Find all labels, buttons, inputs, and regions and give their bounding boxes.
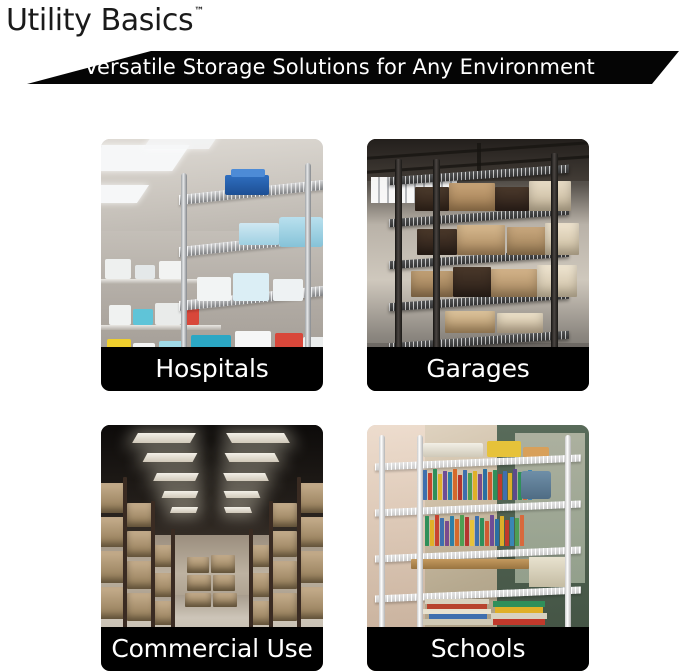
hospitals-label-band: Hospitals — [101, 347, 323, 391]
brand-name: Utility Basics — [6, 2, 193, 40]
commercial-use-label: Commercial Use — [111, 627, 312, 671]
banner-headline: Versatile Storage Solutions for Any Envi… — [0, 51, 679, 84]
use-case-card-garages[interactable]: Garages — [367, 139, 589, 391]
use-case-card-commercial-use[interactable]: Commercial Use — [101, 425, 323, 671]
hospitals-label: Hospitals — [155, 347, 268, 391]
garages-label-band: Garages — [367, 347, 589, 391]
use-case-card-schools[interactable]: Schools — [367, 425, 589, 671]
garages-label: Garages — [426, 347, 529, 391]
schools-label-band: Schools — [367, 627, 589, 671]
use-case-card-grid: Hospitals — [0, 139, 679, 671]
use-case-card-hospitals[interactable]: Hospitals — [101, 139, 323, 391]
commercial-use-label-band: Commercial Use — [101, 627, 323, 671]
trademark-symbol: ™ — [194, 5, 204, 19]
brand-logo: Utility Basics ™ — [6, 2, 204, 42]
schools-label: Schools — [431, 627, 526, 671]
headline-banner: Versatile Storage Solutions for Any Envi… — [0, 51, 679, 84]
